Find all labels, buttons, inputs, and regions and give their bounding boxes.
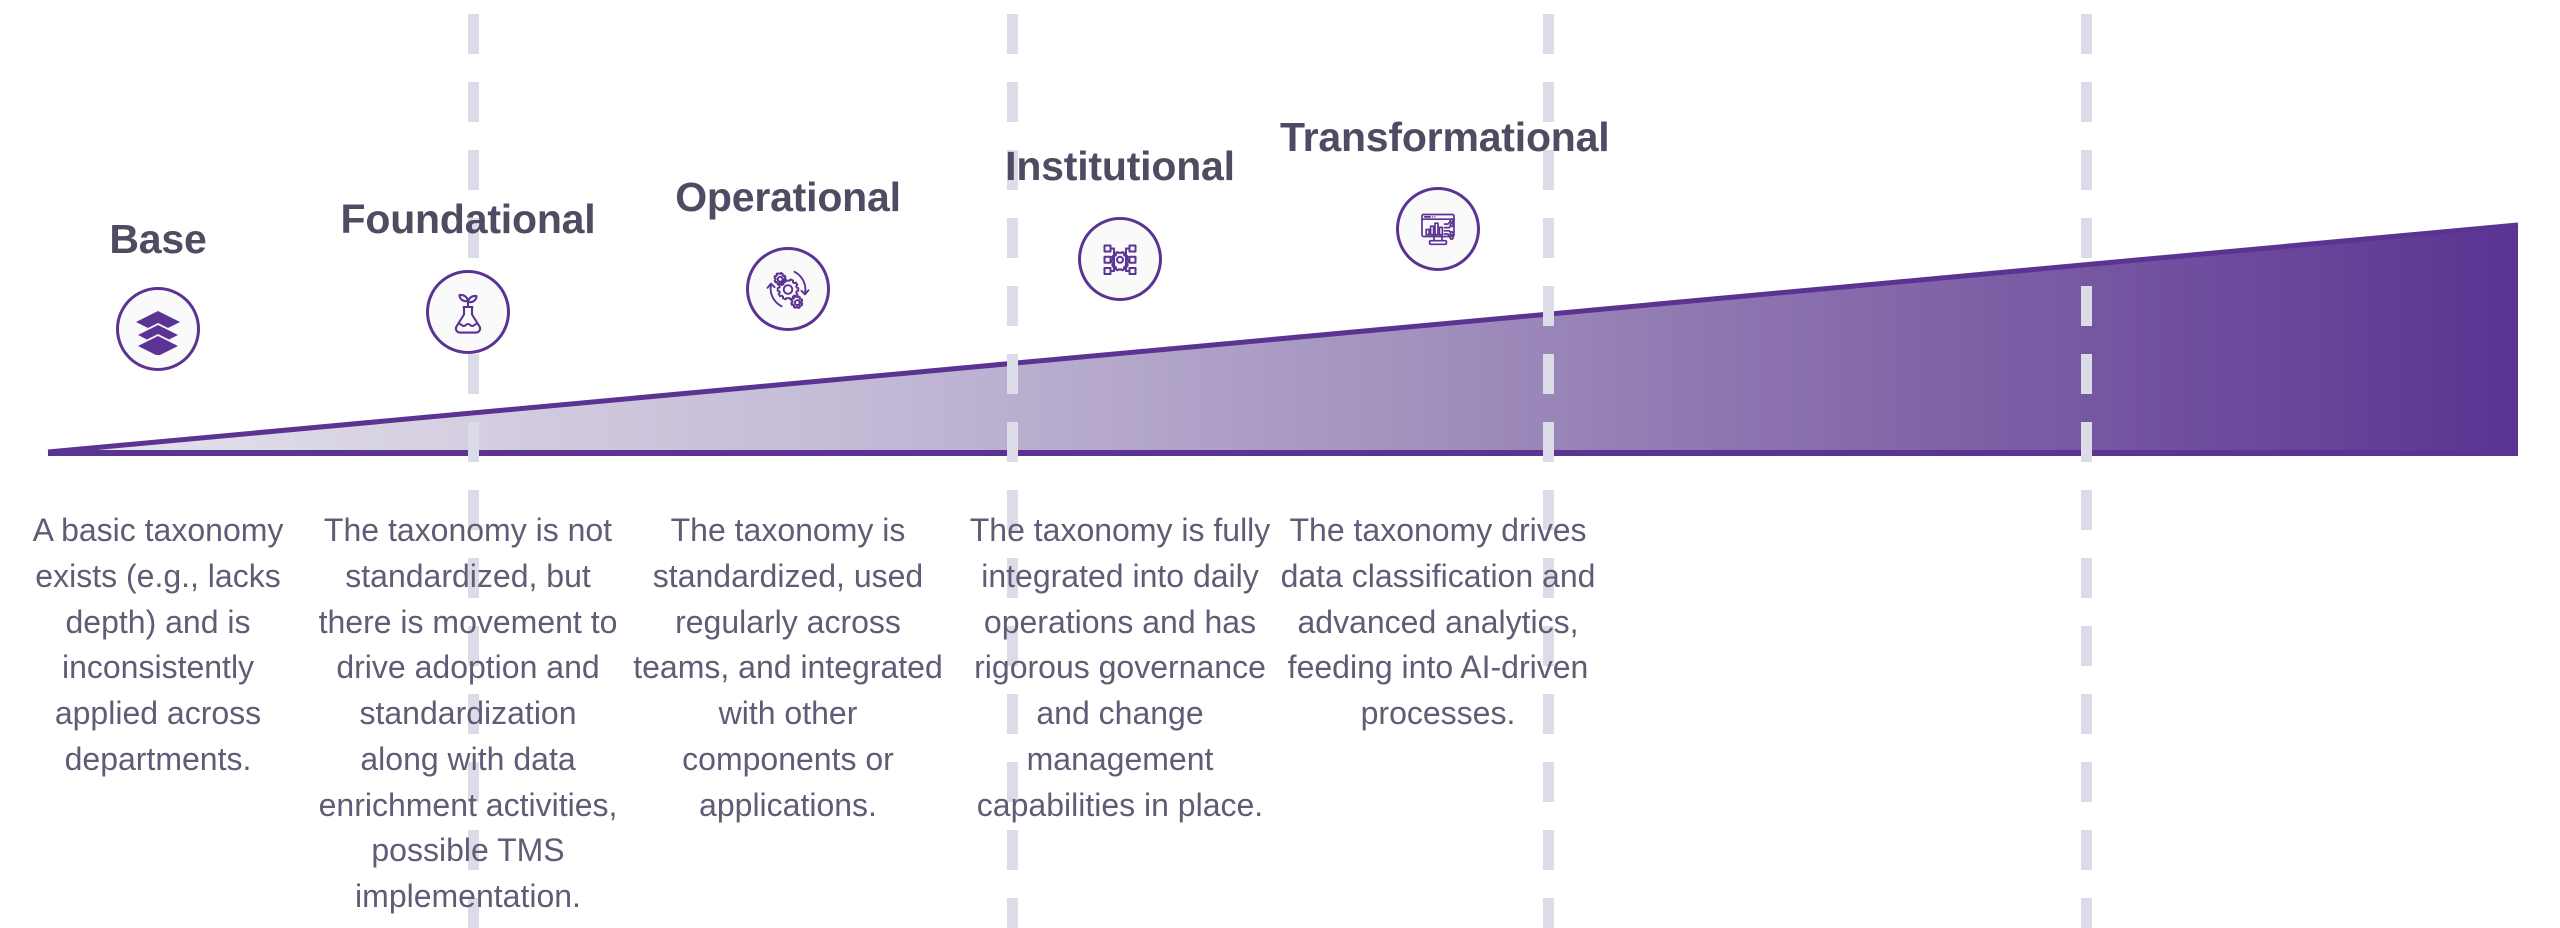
divider-4 (2081, 14, 2092, 928)
stage-description-operational: The taxonomy is standardized, used regul… (630, 508, 946, 828)
layers-icon (116, 287, 200, 371)
stage-description-institutional: The taxonomy is fully integrated into da… (962, 508, 1278, 828)
maturity-model-diagram: Base A basic taxonomy exists (e.g., lack… (0, 0, 2560, 928)
stage-description-base: A basic taxonomy exists (e.g., lacks dep… (8, 508, 308, 783)
stage-title-institutional: Institutional (962, 144, 1278, 189)
gears-cycle-icon (746, 247, 830, 331)
network-gear-icon (1078, 217, 1162, 301)
stage-title-operational: Operational (630, 175, 946, 220)
stage-description-transformational: The taxonomy drives data classification … (1280, 508, 1596, 737)
stage-description-foundational: The taxonomy is not standardized, but th… (318, 508, 618, 920)
stage-title-transformational: Transformational (1280, 115, 1596, 160)
flask-sprout-icon (426, 270, 510, 354)
stage-title-foundational: Foundational (318, 197, 618, 242)
stage-title-base: Base (8, 217, 308, 262)
analytics-ai-monitor-icon (1396, 187, 1480, 271)
